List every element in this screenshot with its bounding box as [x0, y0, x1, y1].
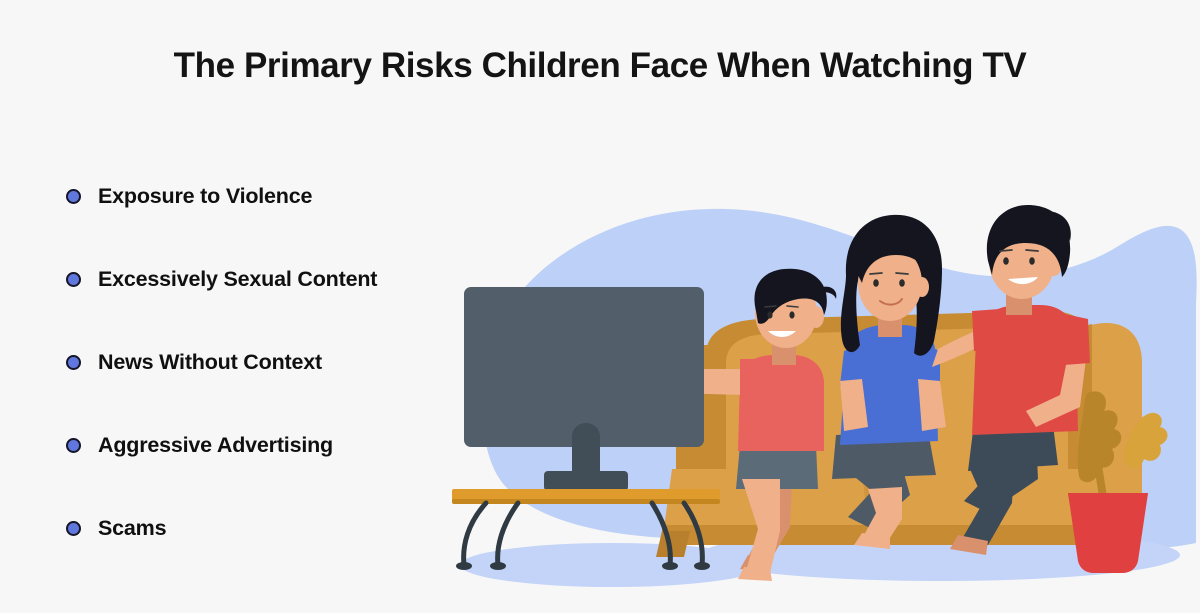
man-sleeve-right: [1060, 313, 1090, 365]
boy-sleeve: [740, 359, 770, 395]
boy-brow-right: [787, 306, 798, 307]
list-item: News Without Context: [66, 342, 486, 382]
woman-eye-right: [899, 279, 905, 287]
man-sleeve-left: [972, 309, 1002, 351]
tv-neck: [572, 423, 600, 475]
boy-ear: [808, 306, 824, 328]
plant-pot-rim: [1068, 493, 1148, 505]
tv-stand-foot-1: [456, 562, 472, 570]
bullet-circle-icon: [66, 438, 81, 453]
boy-foot-front: [738, 567, 772, 581]
risk-label: Exposure to Violence: [98, 184, 312, 209]
bullet-circle-icon: [66, 189, 81, 204]
man-eye-right: [1029, 257, 1035, 265]
woman-brow-right: [896, 273, 908, 274]
woman-ear: [915, 277, 929, 297]
risk-label: Scams: [98, 516, 166, 541]
tv-base: [544, 471, 628, 491]
bullet-circle-icon: [66, 355, 81, 370]
risk-label: Aggressive Advertising: [98, 433, 333, 458]
risk-label: News Without Context: [98, 350, 322, 375]
tv-screen: [464, 287, 704, 447]
bullet-circle-icon: [66, 521, 81, 536]
list-item: Excessively Sexual Content: [66, 259, 486, 299]
risk-list: Exposure to Violence Excessively Sexual …: [66, 176, 486, 548]
risk-label: Excessively Sexual Content: [98, 267, 377, 292]
page-title: The Primary Risks Children Face When Wat…: [0, 45, 1200, 87]
family-watching-tv-illustration: [440, 183, 1200, 613]
woman-eye-left: [873, 279, 879, 287]
man-brow-left: [1000, 250, 1012, 251]
tv-stand-foot-4: [694, 562, 710, 570]
man-brow-right: [1026, 250, 1038, 251]
boy-eye-right: [789, 311, 794, 318]
boy-brow-left: [765, 306, 776, 307]
list-item: Scams: [66, 508, 486, 548]
list-item: Aggressive Advertising: [66, 425, 486, 465]
man-eye-left: [1003, 257, 1009, 265]
tv-stand-foot-3: [662, 562, 678, 570]
list-item: Exposure to Violence: [66, 176, 486, 216]
bullet-circle-icon: [66, 272, 81, 287]
infographic-canvas: The Primary Risks Children Face When Wat…: [0, 0, 1200, 613]
tv-stand-foot-2: [490, 562, 506, 570]
woman-brow-left: [870, 273, 882, 274]
tv-stand-top-shadow: [452, 499, 720, 504]
boy-eye-left: [767, 311, 772, 318]
